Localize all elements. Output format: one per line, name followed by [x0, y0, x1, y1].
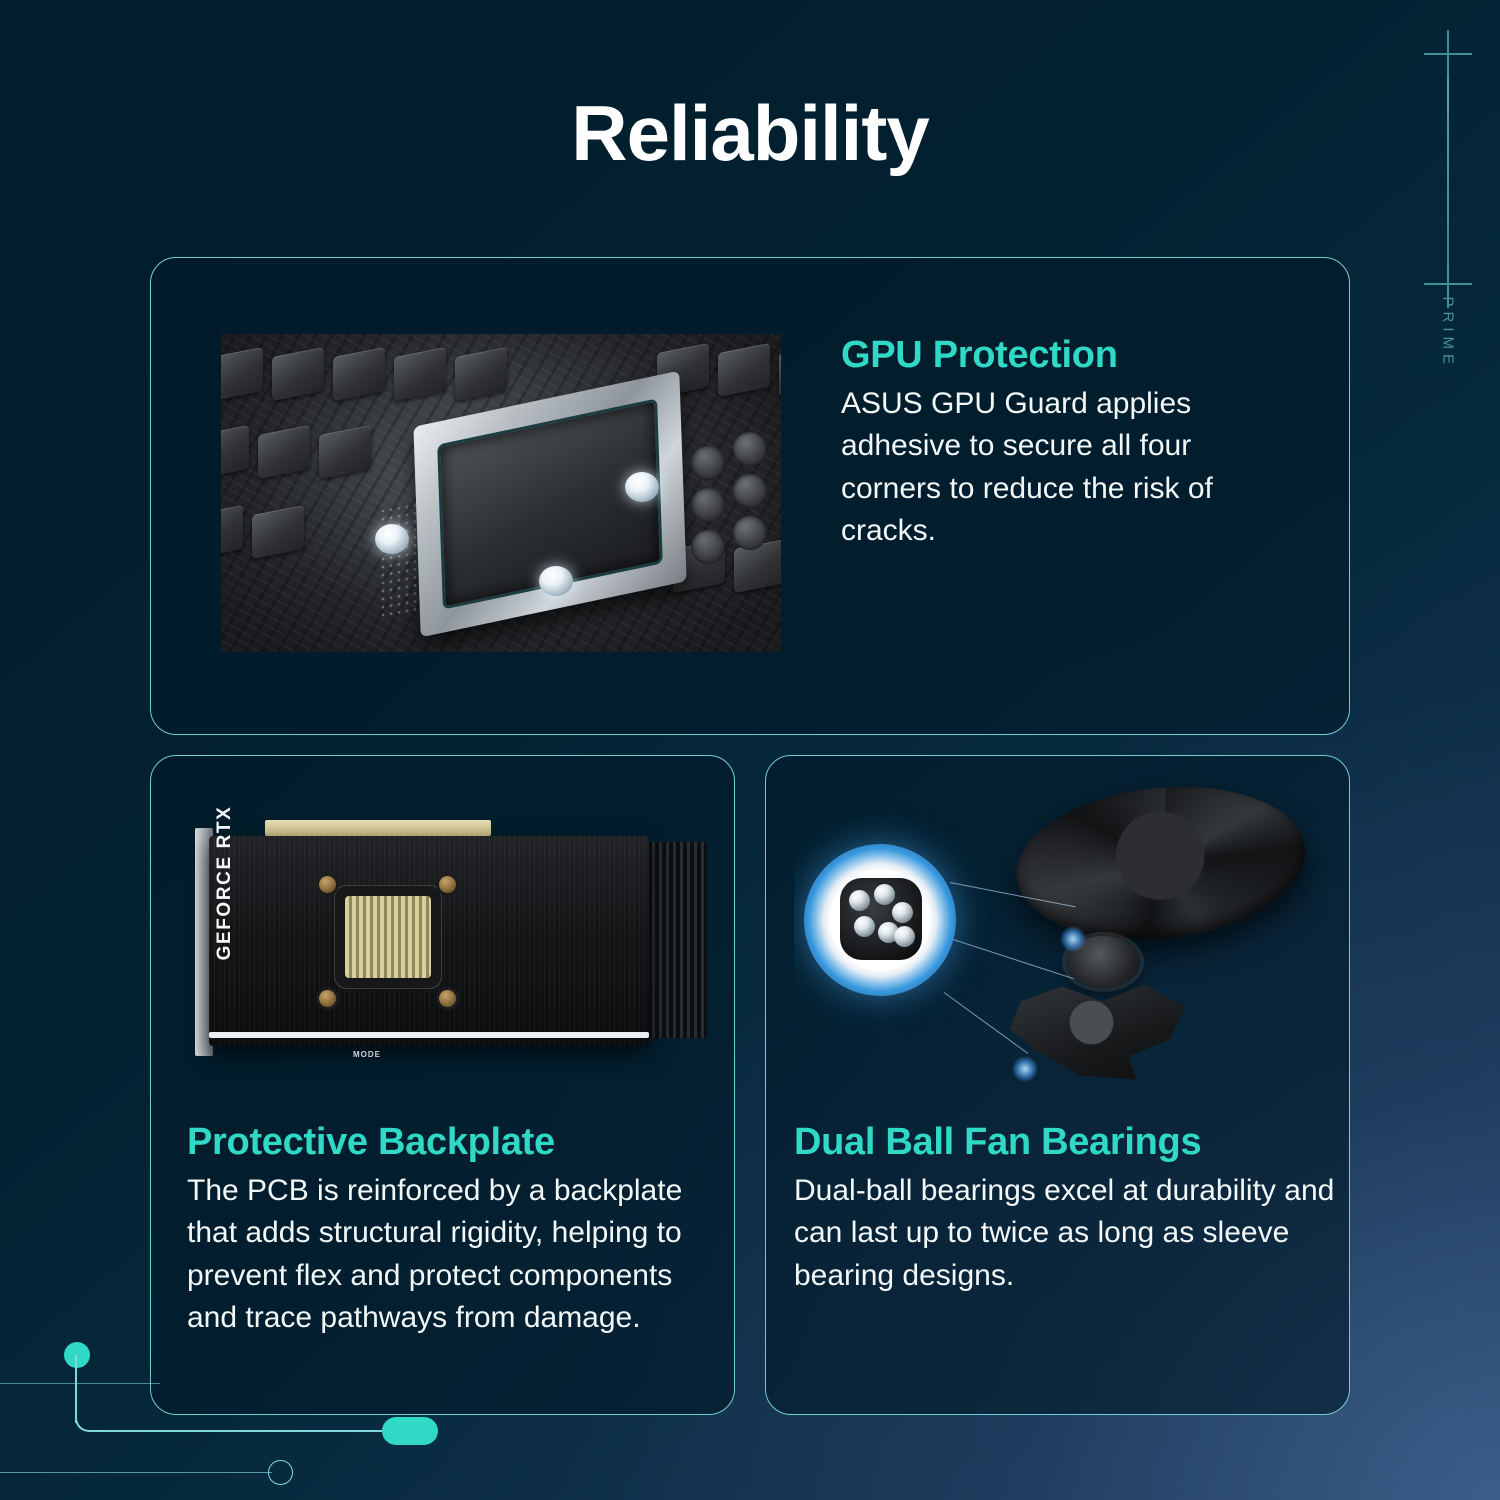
- mounting-screw: [319, 990, 336, 1007]
- bearing-ball: [894, 926, 915, 947]
- adhesive-blob: [625, 472, 659, 502]
- capacitor: [733, 474, 767, 508]
- circuit-hollow-circle: [268, 1460, 293, 1485]
- capacitor: [691, 446, 725, 480]
- magnifier-circle: [804, 844, 956, 996]
- card-body-dual-ball-fan-bearings: Dual-ball bearings excel at durability a…: [794, 1170, 1339, 1298]
- circuit-filled-dot: [64, 1342, 90, 1368]
- bearing-ball: [874, 884, 895, 905]
- adhesive-blob: [375, 524, 409, 554]
- memory-chip: [252, 505, 304, 559]
- memory-row: [673, 544, 781, 588]
- ball-bearing-cluster: [840, 878, 922, 960]
- adhesive-blob: [539, 566, 573, 596]
- bearing-ball: [892, 902, 913, 923]
- memory-chip: [455, 347, 507, 401]
- circuit-trace-corner: [75, 1408, 99, 1432]
- ornament-divider-line: [1447, 78, 1449, 260]
- plus-mark-icon: [1424, 30, 1472, 78]
- capacitor-column: [733, 432, 767, 550]
- card-protective-backplate: GEFORCE RTX MODE Protective Backplate Th…: [150, 755, 735, 1415]
- memory-row: [221, 510, 304, 554]
- prime-brand-label: PRIME: [1440, 297, 1457, 357]
- capacitor: [733, 516, 767, 550]
- card-heading-gpu-protection: GPU Protection: [841, 334, 1291, 377]
- mounting-screw: [439, 876, 456, 893]
- memory-chip: [718, 343, 770, 397]
- capacitor: [691, 488, 725, 522]
- page-title: Reliability: [0, 88, 1500, 179]
- capacitor: [691, 530, 725, 564]
- bearing-highlight: [1060, 926, 1086, 952]
- memory-chip: [221, 425, 249, 479]
- circuit-decoration: [0, 1320, 760, 1500]
- card-dual-ball-fan-bearings: Dual Ball Fan Bearings Dual-ball bearing…: [765, 755, 1350, 1415]
- card-body-gpu-protection: ASUS GPU Guard applies adhesive to secur…: [841, 383, 1291, 553]
- circuit-trace-horizontal: [0, 1383, 160, 1384]
- mounting-screw: [319, 876, 336, 893]
- memory-chip: [319, 425, 371, 479]
- gpu-protection-text-block: GPU Protection ASUS GPU Guard applies ad…: [841, 334, 1291, 553]
- memory-chip: [221, 505, 243, 559]
- card-heading-protective-backplate: Protective Backplate: [187, 1121, 717, 1164]
- backplate-text-block: Protective Backplate The PCB is reinforc…: [187, 1121, 717, 1340]
- memory-chip: [333, 347, 385, 401]
- memory-chip: [272, 347, 324, 401]
- fan-bearings-text-block: Dual Ball Fan Bearings Dual-ball bearing…: [794, 1121, 1339, 1297]
- mode-switch-label: MODE: [353, 1050, 381, 1059]
- capacitor-column: [691, 446, 725, 564]
- fan-bearing-photo: [794, 778, 1329, 1098]
- geforce-rtx-label: GEFORCE RTX: [214, 784, 236, 983]
- bearing-highlight: [1012, 1056, 1038, 1082]
- memory-chip: [258, 425, 310, 479]
- bearing-ball: [854, 916, 875, 937]
- mounting-screw: [439, 990, 456, 1007]
- backplate-photo: GEFORCE RTX MODE: [177, 784, 712, 1084]
- memory-row: [221, 430, 371, 474]
- circuit-trace-horizontal: [97, 1430, 387, 1432]
- memory-row: [221, 352, 507, 396]
- pcie-connector: [265, 820, 491, 836]
- callout-line: [950, 938, 1074, 979]
- card-body-protective-backplate: The PCB is reinforced by a backplate tha…: [187, 1170, 717, 1340]
- backplate-accent-bar: [209, 1032, 649, 1038]
- fan-blade-assembly: [1009, 778, 1313, 953]
- memory-chip: [779, 343, 781, 397]
- capacitor: [733, 432, 767, 466]
- bearing-ball: [849, 890, 870, 911]
- circuit-filled-pill: [382, 1417, 438, 1445]
- circuit-trace-horizontal: [0, 1472, 272, 1473]
- right-edge-ornament: PRIME: [1424, 30, 1484, 450]
- memory-chip: [394, 347, 446, 401]
- memory-chip: [221, 347, 263, 401]
- gpu-socket-pads: [345, 896, 431, 978]
- card-heading-dual-ball-fan-bearings: Dual Ball Fan Bearings: [794, 1121, 1339, 1164]
- card-gpu-protection: GPU Protection ASUS GPU Guard applies ad…: [150, 257, 1350, 735]
- gpu-die-photo: [221, 334, 781, 652]
